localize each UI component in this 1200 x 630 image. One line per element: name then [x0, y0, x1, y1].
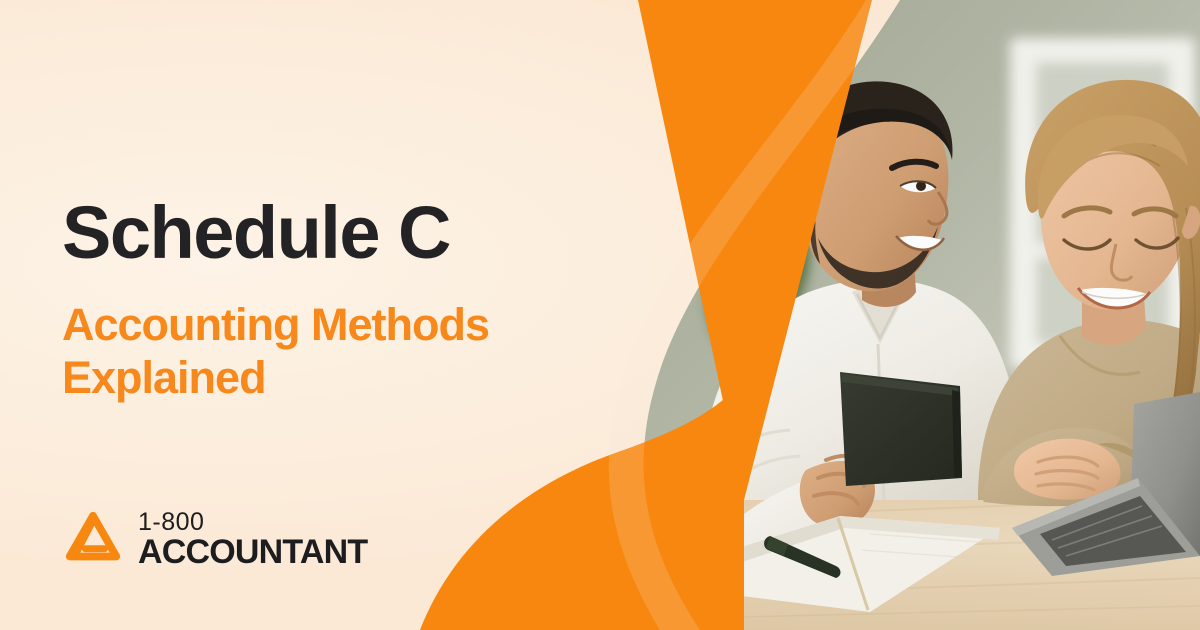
page-subtitle: Accounting Methods Explained	[62, 298, 572, 404]
hero-copy: Schedule C Accounting Methods Explained	[62, 196, 622, 404]
banner-canvas: Schedule C Accounting Methods Explained …	[0, 0, 1200, 630]
brand-logo[interactable]: 1-800 ACCOUNTANT	[62, 508, 367, 570]
brand-logo-wordmark: 1-800 ACCOUNTANT	[138, 509, 367, 570]
page-title: Schedule C	[62, 196, 622, 270]
triangle-a-logo-icon	[62, 508, 124, 570]
brand-logo-line2: ACCOUNTANT	[138, 535, 367, 570]
brand-logo-line1: 1-800	[138, 509, 367, 535]
